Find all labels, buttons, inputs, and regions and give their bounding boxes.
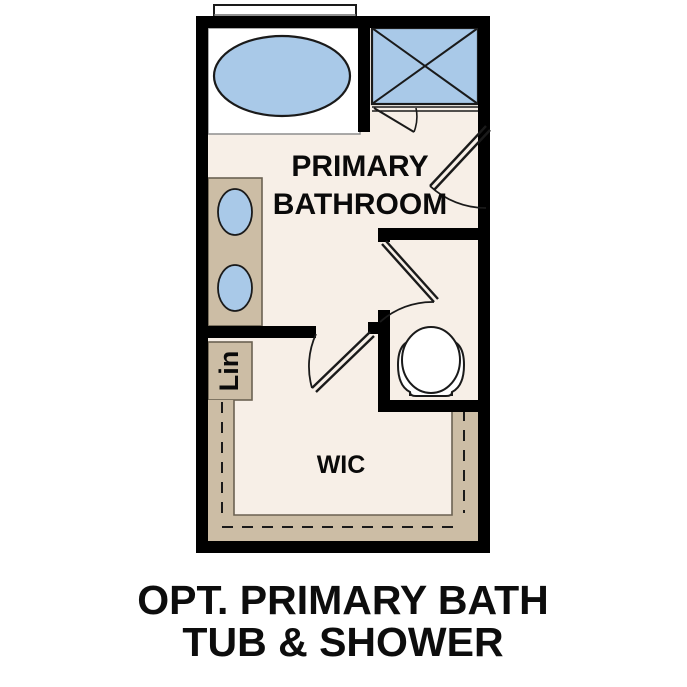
double-vanity [208,178,262,326]
tub-alcove [208,28,360,134]
primary-bathroom-label-line1: PRIMARY [291,150,428,183]
wic-label: WIC [317,451,366,479]
wall-wc-door-jamb [368,322,390,334]
water-closet [384,240,478,400]
wall-wc-left-upper [378,228,390,242]
sink-right [218,265,252,311]
linen-closet-label: Lin [214,351,244,392]
wall-right-upper [478,16,490,124]
sink-left [218,189,252,235]
wall-exterior-top [196,16,490,28]
wall-wc-top [378,228,490,240]
toilet-seat [402,327,460,393]
floor-plan-page: Lin [0,0,687,687]
plan-title: OPT. PRIMARY BATH TUB & SHOWER [137,577,549,665]
wall-exterior-bottom [196,541,490,553]
wall-bath-wic [196,326,316,338]
wall-tub-shower-divider [358,16,370,132]
title-line-2: TUB & SHOWER [182,619,503,665]
floor-plan-drawing: Lin [0,0,687,687]
wall-right-lower [478,208,490,553]
title-line-1: OPT. PRIMARY BATH [137,577,549,623]
linen-closet: Lin [208,342,252,400]
primary-bathroom-label-line2: BATHROOM [273,188,447,221]
bathtub [214,36,350,116]
wall-wc-bottom [378,400,490,412]
wall-exterior-left [196,16,208,553]
